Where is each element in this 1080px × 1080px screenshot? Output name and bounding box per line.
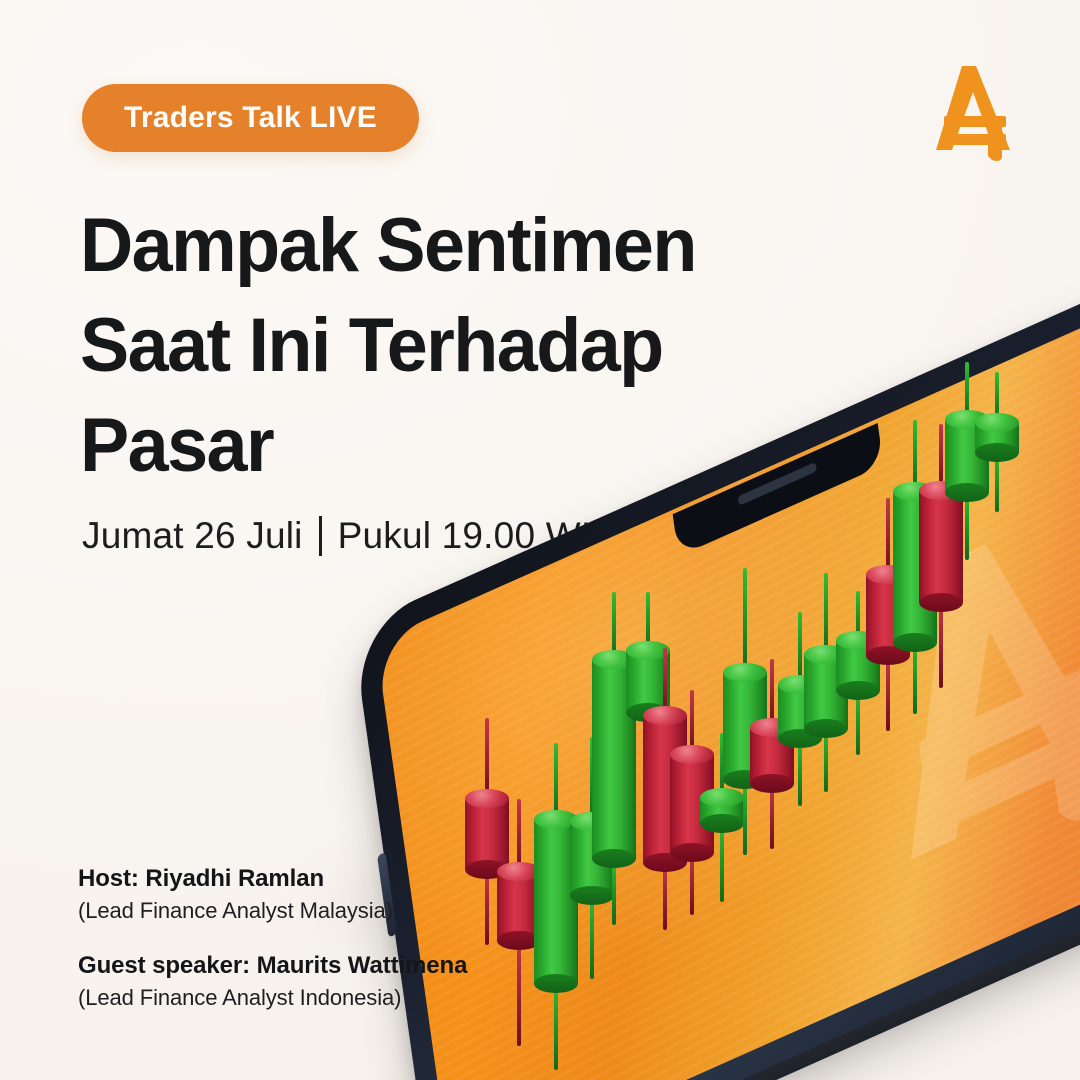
speaker-name: Guest speaker: Maurits Wattimena xyxy=(78,952,598,980)
speaker-name: Host: Riyadhi Ramlan xyxy=(78,865,598,893)
page-title: Dampak Sentimen Saat Ini Terhadap Pasar xyxy=(80,196,800,496)
aeon-a-currency-logo-icon xyxy=(918,58,1028,168)
speaker-role: (Lead Finance Analyst Malaysia) xyxy=(78,898,598,924)
live-badge: Traders Talk LIVE xyxy=(82,84,419,152)
promo-poster: Traders Talk LIVE Dampak Sentimen Saat I… xyxy=(0,0,1080,1080)
headline-line-3: Pasar xyxy=(80,396,778,496)
speaker-list: Host: Riyadhi Ramlan (Lead Finance Analy… xyxy=(78,865,598,1039)
schedule-date: Jumat 26 Juli xyxy=(82,515,303,557)
headline-line-1: Dampak Sentimen xyxy=(80,196,778,296)
live-badge-label: Traders Talk LIVE xyxy=(124,101,377,135)
schedule-line: Jumat 26 Juli Pukul 19.00 WIB xyxy=(82,515,616,557)
schedule-separator xyxy=(319,516,322,556)
speaker-host: Host: Riyadhi Ramlan (Lead Finance Analy… xyxy=(78,865,598,924)
headline-line-2: Saat Ini Terhadap xyxy=(80,296,778,396)
speaker-guest: Guest speaker: Maurits Wattimena (Lead F… xyxy=(78,952,598,1011)
speaker-role: (Lead Finance Analyst Indonesia) xyxy=(78,985,598,1011)
schedule-time: Pukul 19.00 WIB xyxy=(338,515,617,557)
